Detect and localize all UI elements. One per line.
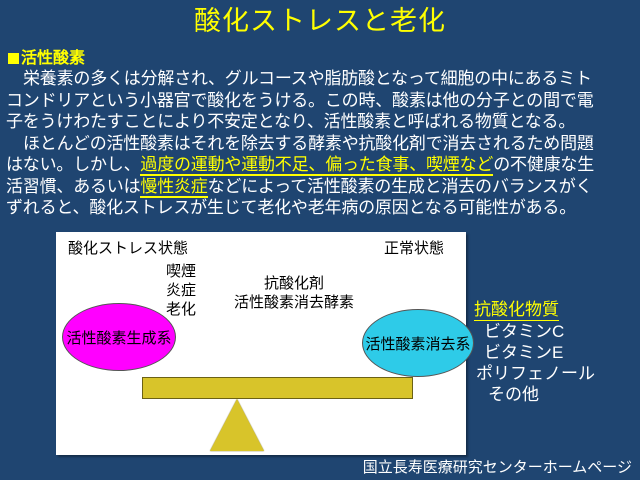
antioxidant-title-wrap: 抗酸化物質: [466, 299, 638, 321]
diagram-label-normal-state: 正常状態: [384, 240, 444, 259]
stress-factor-item: 老化: [166, 301, 196, 320]
balance-beam: [142, 377, 413, 399]
body-line-7: ずれると、酸化ストレスが生じて老化や老年病の原因となる可能性がある。: [6, 197, 636, 219]
antioxidant-title: 抗酸化物質: [474, 299, 559, 321]
body-line-5-post: の不健康な生: [493, 155, 594, 174]
page-title: 酸化ストレスと老化: [0, 4, 640, 38]
balance-fulcrum-triangle: [210, 399, 264, 451]
antioxidant-substance-block: 抗酸化物質 ビタミンC ビタミンE ポリフェノール その他: [466, 299, 638, 405]
antioxidant-item-polyphenol: ポリフェノール: [466, 363, 638, 384]
stress-factor-item: 炎症: [166, 282, 196, 301]
antioxidant-item-other: その他: [466, 384, 638, 405]
diagram-stress-factor-list: 喫煙 炎症 老化: [166, 263, 196, 320]
slide-canvas: 酸化ストレスと老化 活性酸素 栄養素の多くは分解され、グルコースや脂肪酸となって…: [0, 0, 640, 480]
body-line-6-post: などによって活性酸素の生成と消去のバランスがく: [208, 177, 593, 196]
section-heading-label: 活性酸素: [21, 50, 85, 67]
body-line-5: はない。しかし、過度の運動や運動不足、偏った食事、喫煙などの不健康な生: [6, 154, 636, 176]
highlight-lifestyle-factors: 過度の運動や運動不足、偏った食事、喫煙など: [140, 155, 493, 176]
body-line-5-pre: はない。しかし、: [6, 155, 140, 174]
body-line-3: 子をうけわたすことにより不安定となり、活性酸素と呼ばれる物質となる。: [6, 111, 636, 133]
ellipse-ros-generation-label: 活性酸素生成系: [66, 327, 171, 348]
body-line-1: 栄養素の多くは分解され、グルコースや脂肪酸となって細胞の中にあるミト: [6, 68, 636, 90]
antioxidant-agent-item: 活性酸素消去酵素: [234, 294, 354, 313]
diagram-label-oxidative-stress-state: 酸化ストレス状態: [68, 240, 188, 259]
footer-source: 国立長寿医療研究センターホームページ: [363, 458, 632, 477]
highlight-chronic-inflammation: 慢性炎症: [140, 177, 207, 198]
ellipse-ros-generation-system: 活性酸素生成系: [62, 303, 176, 371]
square-bullet-icon: [8, 53, 19, 64]
diagram-antioxidant-agent-list: 抗酸化剤 活性酸素消去酵素: [234, 275, 354, 313]
body-line-2: コンドリアという小器官で酸化をうける。この時、酸素は他の分子との間で電: [6, 90, 636, 112]
body-line-4: ほとんどの活性酸素はそれを除去する酵素や抗酸化剤で消去されるため問題: [6, 133, 636, 155]
stress-factor-item: 喫煙: [166, 263, 196, 282]
section-heading: 活性酸素: [8, 49, 85, 68]
body-line-6-pre: 活習慣、あるいは: [6, 177, 140, 196]
balance-diagram-panel: 酸化ストレス状態 正常状態 喫煙 炎症 老化 抗酸化剤 活性酸素消去酵素 活性酸…: [56, 232, 466, 455]
antioxidant-item-vitamin-c: ビタミンC: [466, 321, 638, 342]
ellipse-ros-removal-system: 活性酸素消去系: [362, 309, 474, 377]
body-text: 栄養素の多くは分解され、グルコースや脂肪酸となって細胞の中にあるミト コンドリア…: [6, 68, 636, 219]
ellipse-ros-removal-label: 活性酸素消去系: [365, 333, 470, 354]
body-line-6: 活習慣、あるいは慢性炎症などによって活性酸素の生成と消去のバランスがく: [6, 176, 636, 198]
antioxidant-agent-item: 抗酸化剤: [234, 275, 354, 294]
antioxidant-item-vitamin-e: ビタミンE: [466, 342, 638, 363]
